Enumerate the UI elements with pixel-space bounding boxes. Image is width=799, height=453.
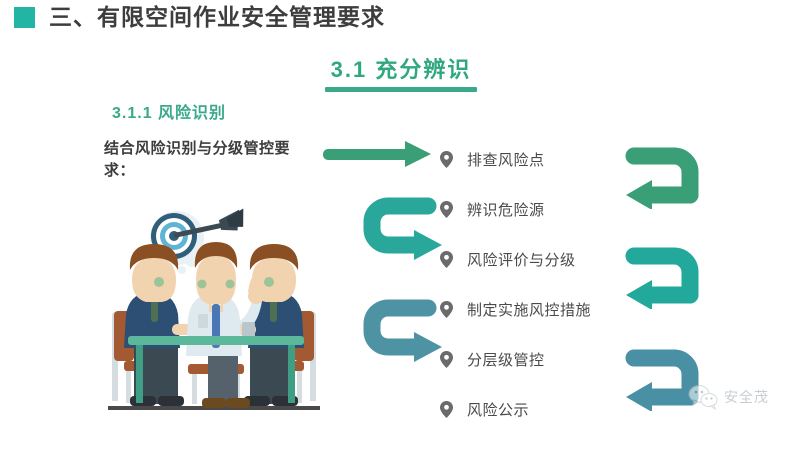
wechat-icon: [688, 384, 718, 410]
loop-arrow-left-top: [362, 197, 448, 261]
list-item-label: 分层级管控: [467, 349, 545, 370]
title-bullet-square: [14, 7, 35, 28]
section-heading: 3.1 充分辨识: [325, 58, 477, 92]
list-item[interactable]: 辨识危险源: [440, 184, 591, 234]
section-heading-underline: [325, 87, 477, 92]
loop-arrow-right-middle: [618, 247, 700, 309]
list-item[interactable]: 排查风险点: [440, 134, 591, 184]
list-item[interactable]: 制定实施风控措施: [440, 284, 591, 334]
map-pin-icon: [440, 401, 453, 418]
page-title-text: 三、有限空间作业安全管理要求: [49, 6, 385, 29]
map-pin-icon: [440, 251, 453, 268]
straight-arrow-right: [323, 140, 433, 168]
watermark: 安全茂: [688, 384, 769, 410]
list-item[interactable]: 风险公示: [440, 384, 591, 434]
watermark-text: 安全茂: [724, 387, 769, 407]
page-title: 三、有限空间作业安全管理要求: [14, 6, 385, 29]
map-pin-icon: [440, 301, 453, 318]
map-pin-icon: [440, 351, 453, 368]
list-item-label: 制定实施风控措施: [467, 299, 591, 320]
subsection-heading: 3.1.1 风险识别: [112, 99, 226, 123]
map-pin-icon: [440, 201, 453, 218]
map-pin-icon: [440, 151, 453, 168]
loop-arrow-left-bottom: [362, 299, 448, 363]
list-item-label: 排查风险点: [467, 149, 545, 170]
lead-paragraph: 结合风险识别与分级管控要求：: [104, 138, 319, 182]
list-item-label: 风险公示: [467, 399, 529, 420]
loop-arrow-right-top: [618, 147, 700, 209]
list-item-label: 风险评价与分级: [467, 249, 576, 270]
meeting-discussion-with-target-illustration: [96, 196, 332, 432]
slide-root: 三、有限空间作业安全管理要求 3.1 充分辨识 3.1.1 风险识别 结合风险识…: [0, 0, 799, 453]
list-item[interactable]: 分层级管控: [440, 334, 591, 384]
section-heading-text: 3.1 充分辨识: [325, 58, 477, 82]
list-item-label: 辨识危险源: [467, 199, 545, 220]
list-item[interactable]: 风险评价与分级: [440, 234, 591, 284]
risk-step-list: 排查风险点 辨识危险源 风险评价与分级 制定实施风控措施: [440, 134, 591, 434]
